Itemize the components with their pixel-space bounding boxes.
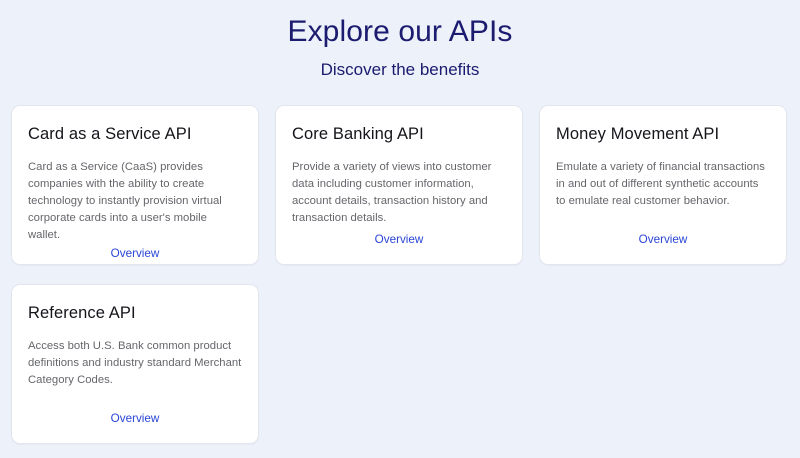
api-card-description: Emulate a variety of financial transacti… (556, 159, 770, 210)
api-card-money-movement[interactable]: Money Movement API Emulate a variety of … (539, 105, 787, 265)
page-header: Explore our APIs Discover the benefits (0, 0, 800, 82)
api-card-title: Card as a Service API (28, 123, 242, 145)
overview-link[interactable]: Overview (111, 246, 160, 262)
api-card-description: Provide a variety of views into customer… (292, 159, 506, 227)
api-card-footer: Overview (292, 230, 506, 250)
api-card-title: Reference API (28, 302, 242, 324)
api-card-title: Core Banking API (292, 123, 506, 145)
api-card-grid: Card as a Service API Card as a Service … (0, 105, 800, 444)
api-card-core-banking[interactable]: Core Banking API Provide a variety of vi… (275, 105, 523, 265)
page-title: Explore our APIs (0, 12, 800, 52)
api-explorer-page: Explore our APIs Discover the benefits C… (0, 0, 800, 458)
api-card-title: Money Movement API (556, 123, 770, 145)
api-card-description: Access both U.S. Bank common product def… (28, 338, 242, 389)
page-subtitle: Discover the benefits (0, 58, 800, 82)
api-card-card-as-a-service[interactable]: Card as a Service API Card as a Service … (11, 105, 259, 265)
api-card-footer: Overview (556, 230, 770, 250)
overview-link[interactable]: Overview (375, 232, 424, 248)
overview-link[interactable]: Overview (111, 411, 160, 427)
api-card-description: Card as a Service (CaaS) provides compan… (28, 159, 242, 244)
api-card-footer: Overview (28, 409, 242, 429)
api-card-reference[interactable]: Reference API Access both U.S. Bank comm… (11, 284, 259, 444)
api-card-footer: Overview (28, 244, 242, 264)
overview-link[interactable]: Overview (639, 232, 688, 248)
